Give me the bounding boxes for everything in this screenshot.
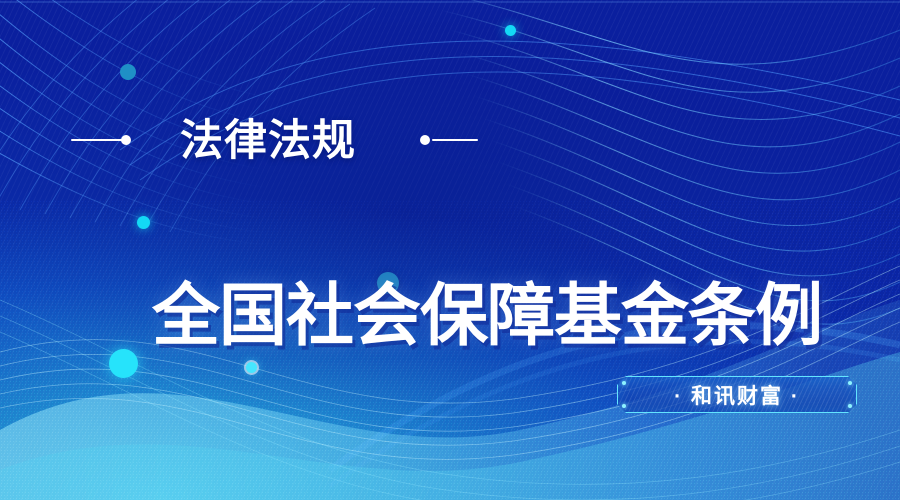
eyebrow-right-dot-icon	[420, 135, 430, 145]
decor-dot-mid-left-icon	[137, 216, 150, 229]
decor-dot-bottom-small-icon	[246, 362, 257, 373]
category-label: 法律法规	[180, 113, 356, 169]
eyebrow-right-rule-icon	[432, 139, 478, 141]
decor-dot-bottom-large-icon	[109, 349, 138, 378]
eyebrow-left-rule-icon	[71, 139, 125, 141]
page-title: 全国社会保障基金条例	[152, 274, 822, 358]
eyebrow-row: 法律法规	[0, 115, 900, 167]
eyebrow-left-dot-icon	[121, 135, 131, 145]
decor-dot-top-left-icon	[120, 64, 136, 80]
brand-badge: · 和讯财富 ·	[617, 376, 857, 413]
banner: 法律法规 全国社会保障基金条例 · 和讯财富 ·	[0, 0, 900, 500]
brand-badge-label: · 和讯财富 ·	[617, 376, 857, 413]
decor-dot-top-center-icon	[505, 25, 516, 36]
